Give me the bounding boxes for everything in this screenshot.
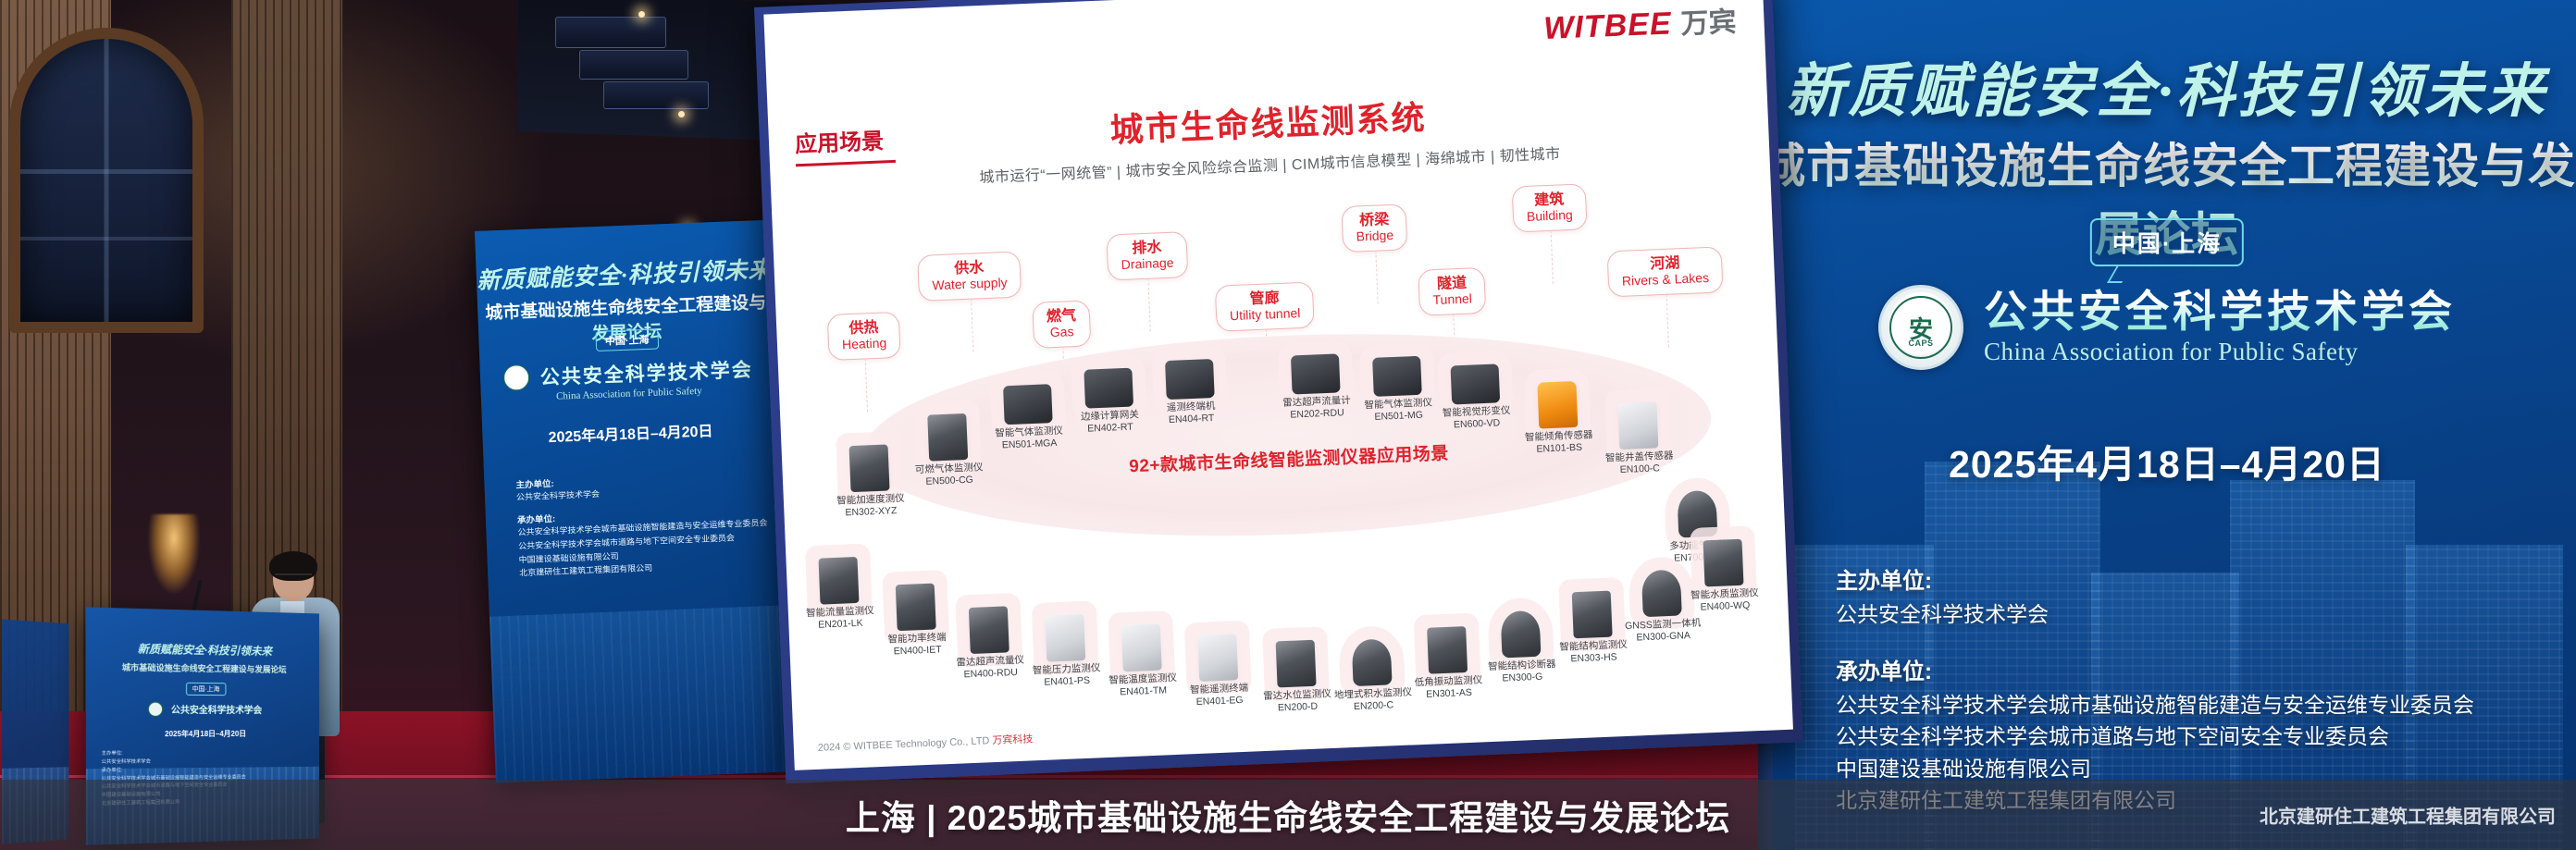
side-banner-organization: 公共安全科学技术学会 China Association for Public … (480, 354, 777, 405)
device-icon (1121, 624, 1162, 672)
chandelier (148, 514, 200, 594)
device-icon (1703, 539, 1743, 587)
device-icon (1451, 363, 1501, 404)
device-icon (969, 606, 1009, 654)
side-banner-location-chip: 中国·上海 (595, 328, 658, 351)
banner-organizer-block: 主办单位: 公共安全科学技术学会 承办单位: 公共安全科学技术学会城市基础设施智… (1836, 562, 2474, 817)
category-pill: 燃气 Gas (1032, 300, 1091, 349)
podium-date: 2025年4月18日–4月20日 (86, 729, 319, 739)
device-icon (1276, 640, 1317, 688)
main-led-screen: WITBEE 万宾 应用场景 城市生命线监测系统 城市运行“一网统管” | 城市… (754, 0, 1803, 783)
device-item: 智能井盖传感器 EN100-C (1594, 400, 1682, 476)
glasses-icon (275, 573, 312, 582)
line-array-speaker (579, 50, 688, 80)
device-icon (1165, 359, 1215, 400)
device-item: 智能气体监测仪 EN501-MG (1354, 355, 1442, 424)
device-icon (1500, 610, 1541, 659)
witbee-logo: WITBEE 万宾 (1542, 0, 1737, 47)
coorganizer-item: 公共安全科学技术学会城市道路与地下空间安全专业委员会 (1836, 721, 2474, 753)
device-icon (1572, 591, 1613, 639)
caption-bar: 上海 | 2025城市基础设施生命线安全工程建设与发展论坛 北京建研住工建筑工程… (0, 780, 2576, 850)
screen-frame: WITBEE 万宾 应用场景 城市生命线监测系统 城市运行“一网统管” | 城市… (754, 0, 1803, 783)
conference-backdrop-banner: 新质赋能安全·科技引领未来 城市基础设施生命线安全工程建设与发展论坛 中国·上海… (1758, 0, 2576, 850)
podium-organization: 公共安全科学技术学会 (86, 700, 319, 718)
device-item: 可燃气体监测仪 EN500-CG (904, 413, 992, 488)
arched-window (9, 28, 204, 333)
category-label-en: Heating (842, 337, 887, 353)
device-icon (927, 413, 968, 462)
window-mullion (20, 237, 192, 240)
side-led-screen: 新质赋能安全·科技引领未来 城市基础设施生命线安全工程建设与发展论坛 中国·上海… (475, 220, 792, 783)
category-label-en: Tunnel (1432, 292, 1472, 309)
device-icon (1677, 490, 1717, 538)
organization-name-en: China Association for Public Safety (1984, 338, 2456, 366)
category-label-en: Utility tunnel (1230, 306, 1301, 324)
category-pill: 管廊 Utility tunnel (1215, 281, 1315, 332)
device-icon (1537, 381, 1578, 429)
category-pill: 建筑 Building (1512, 183, 1588, 232)
device-item: 智能气体监测仪 EN501-MGA (985, 383, 1072, 451)
category-label-en: Gas (1046, 325, 1077, 340)
line-array-speaker (555, 17, 666, 48)
device-item: 智能倾角传感器 EN101-BS (1514, 380, 1602, 456)
device-item: 智能压力监测仪 EN401-PS (1022, 613, 1109, 689)
device-icon (849, 444, 890, 492)
device-icon (1291, 353, 1341, 394)
copyright-cn: 万宾科技 (992, 733, 1033, 746)
host-item: 公共安全科学技术学会 (1836, 598, 2474, 631)
device-icon (1617, 401, 1658, 450)
device-icon (896, 584, 936, 632)
device-item: 遥测终端机 EN404-RT (1146, 358, 1234, 426)
organization-name-zh: 公共安全科学技术学会 (171, 702, 262, 716)
device-icon (1197, 634, 1238, 682)
device-icon (818, 557, 859, 605)
brand-name: WITBEE (1543, 6, 1673, 47)
stage-light (638, 11, 645, 18)
side-organizer-block: 主办单位: 公共安全科学技术学会 承办单位: 公共安全科学技术学会城市基础设施智… (515, 468, 769, 581)
organization-name-zh: 公共安全科学技术学会 (1984, 289, 2456, 336)
device-item: 地埋式积水监测仪 EN200-C (1329, 637, 1417, 713)
caption-title: 上海 | 2025城市基础设施生命线安全工程建设与发展论坛 (846, 790, 1730, 840)
device-item: 雷达超声流量仪 EN400-RDU (946, 605, 1034, 681)
side-banner-date: 2025年4月18日–4月20日 (482, 416, 779, 450)
device-item: 智能水质监测仪 EN400-WQ (1680, 538, 1768, 614)
coorganizer-label: 承办单位: (1836, 653, 2474, 685)
coorganizer-item: 公共安全科学技术学会城市基础设施智能建造与安全运维专业委员会 (1836, 689, 2474, 721)
device-icon (1427, 626, 1468, 674)
device-item: 智能流量监测仪 EN201-LK (796, 556, 884, 632)
device-item: 智能视觉形变仪 EN600-VD (1432, 363, 1520, 432)
banner-location-chip: 中国·上海 (2090, 218, 2244, 266)
device-icon (1372, 356, 1422, 397)
category-label-en: Building (1527, 208, 1573, 225)
category-pill: 供水 Water supply (917, 251, 1022, 302)
category-pill: 隧道 Tunnel (1418, 267, 1486, 316)
device-code: EN401-EG (1177, 694, 1262, 708)
category-label-en: Water supply (932, 276, 1008, 293)
device-icon (1003, 384, 1053, 425)
podium-forum-title: 城市基础设施生命线安全工程建设与发展论坛 (86, 660, 319, 676)
device-item: 雷达水位监测仪 EN200-D (1253, 639, 1341, 715)
category-label-en: Drainage (1121, 256, 1173, 273)
category-pill: 河湖 Rivers & Lakes (1607, 246, 1724, 297)
podium-location-chip: 中国·上海 (185, 683, 226, 696)
device-item: 智能遥测终端 EN401-EG (1174, 633, 1262, 708)
category-pill: 排水 Drainage (1106, 231, 1188, 281)
slide-copyright: 2024 © WITBEE Technology Co., LTD 万宾科技 (818, 731, 1034, 755)
device-item: 边缘计算网关 EN402-RT (1065, 367, 1153, 436)
podium-slogan: 新质赋能安全·科技引领未来 (86, 639, 319, 659)
seal-glyph-icon: 安 (1881, 288, 1961, 367)
presentation-slide: WITBEE 万宾 应用场景 城市生命线监测系统 城市运行“一网统管” | 城市… (763, 0, 1793, 770)
category-label-en: Rivers & Lakes (1622, 271, 1710, 289)
caption-tail-text: 北京建研住工建筑工程集团有限公司 (2260, 802, 2556, 829)
device-item: 智能加速度测仪 EN302-XYZ (826, 443, 914, 519)
conference-stage-photo: 新质赋能安全·科技引领未来 城市基础设施生命线安全工程建设与发展论坛 中国·上海… (0, 0, 2576, 850)
organization-names: 公共安全科学技术学会 China Association for Public … (1984, 289, 2456, 366)
banner-organization: 安 CAPS 公共安全科学技术学会 China Association for … (1758, 285, 2576, 370)
category-pill: 桥梁 Bridge (1341, 203, 1407, 253)
device-icon (1641, 569, 1682, 617)
caps-seal-icon: 安 CAPS (1878, 285, 1963, 370)
category-label-en: Bridge (1356, 228, 1393, 245)
caps-seal-icon (503, 364, 530, 391)
side-skyline-graphic (489, 605, 792, 782)
copyright-en: 2024 © WITBEE Technology Co., LTD (818, 735, 990, 754)
category-pill: 供热 Heating (827, 312, 901, 361)
line-array-speaker (603, 81, 709, 109)
device-item: 雷达超声流量计 EN202-RDU (1272, 353, 1360, 422)
brand-name-cn: 万宾 (1680, 0, 1738, 42)
caps-seal-icon (148, 701, 163, 716)
host-label: 主办单位: (1836, 562, 2474, 595)
banner-date: 2025年4月18日–4月20日 (1758, 433, 2576, 488)
device-icon (1045, 614, 1085, 662)
device-icon (1352, 638, 1393, 686)
device-icon (1084, 368, 1133, 409)
device-item: 智能温度监测仪 EN401-TM (1098, 623, 1186, 699)
stage-light (678, 111, 685, 117)
seal-abbr: CAPS (1881, 339, 1961, 348)
banner-slogan: 新质赋能安全·科技引领未来 (1758, 44, 2576, 129)
